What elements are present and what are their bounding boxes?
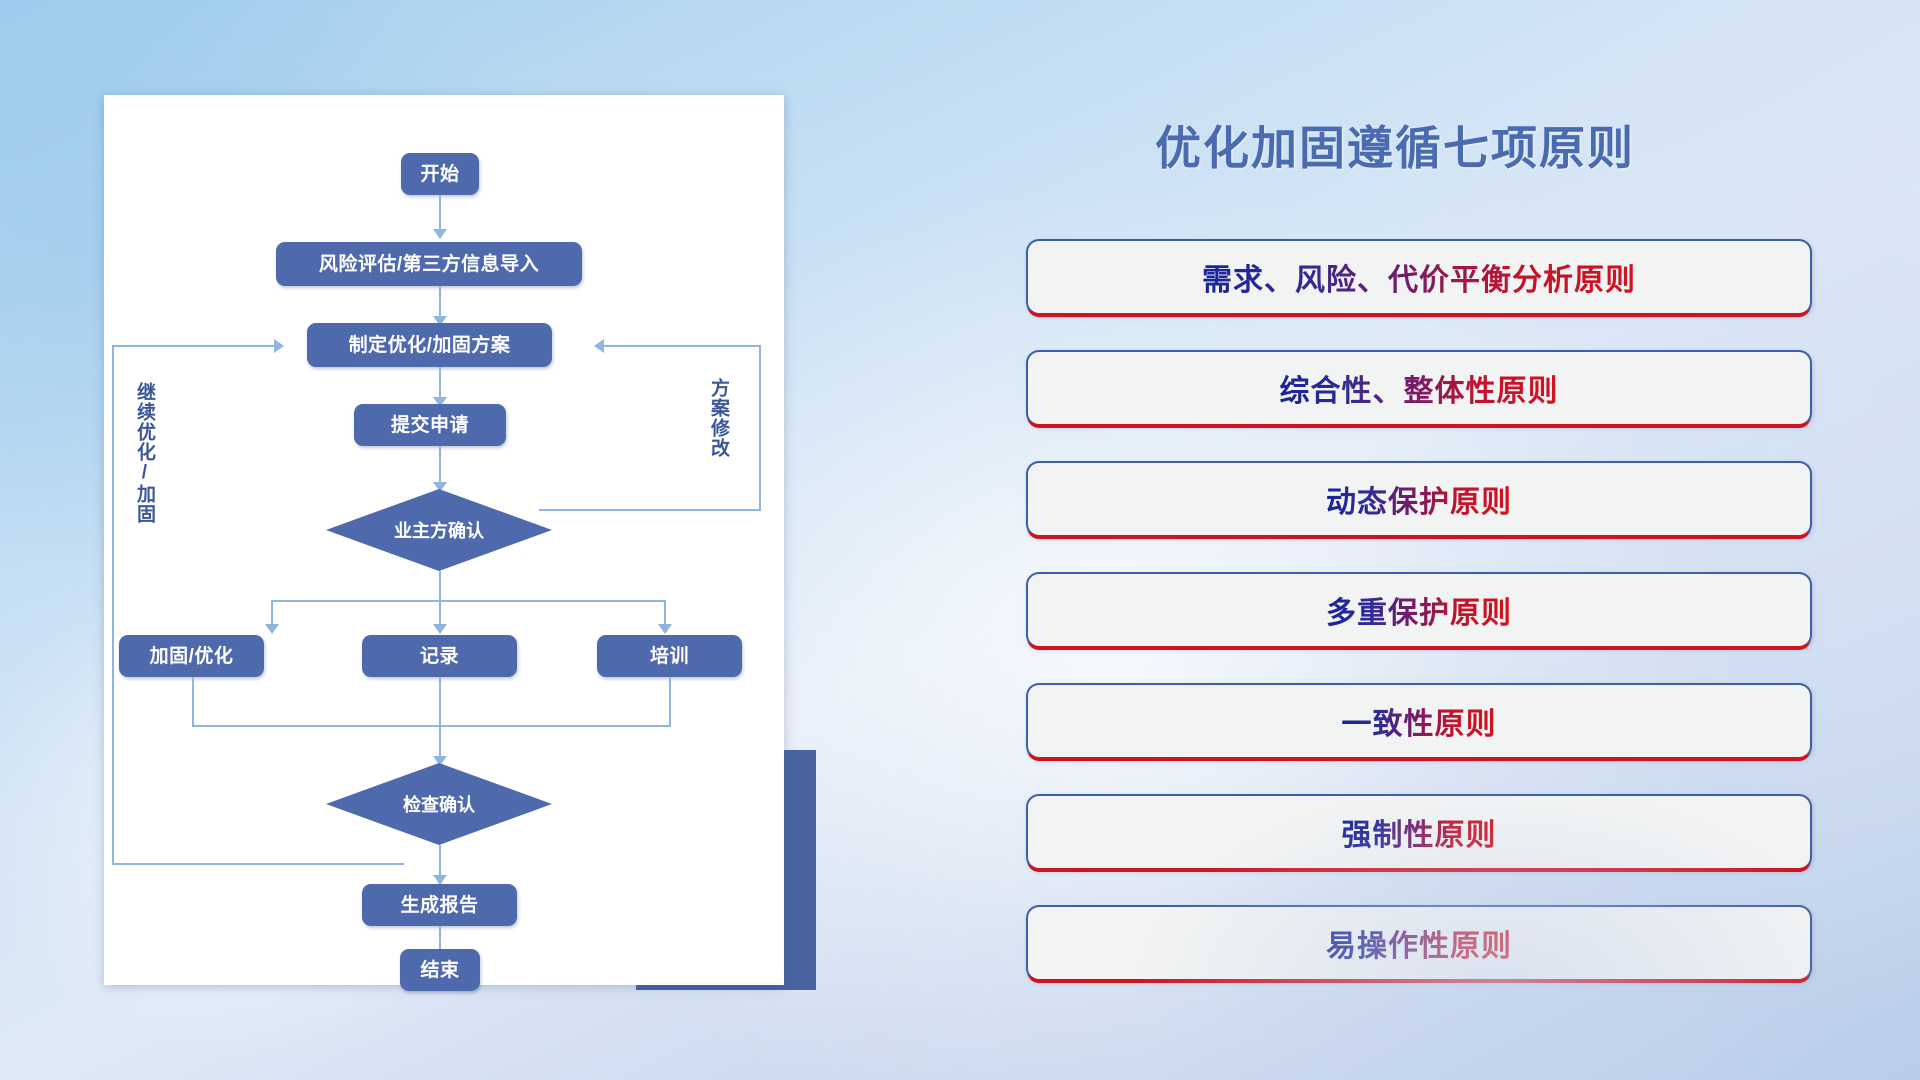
principle-item-7-label: 易操作性原则 (1326, 921, 1512, 965)
connector-right-rail-bottom (539, 509, 761, 511)
flow-node-record[interactable]: 记录 (362, 635, 517, 677)
connector-merge-bus (192, 725, 671, 727)
slide-canvas: 继续优化/加固 方案修改 开始 风险评估/第三方信息导入 制定优化/加固方案 (0, 0, 1920, 1080)
principle-item-4-label: 多重保护原则 (1326, 588, 1512, 632)
flow-node-reinforce-label: 加固/优化 (150, 647, 234, 666)
flow-node-plan[interactable]: 制定优化/加固方案 (307, 323, 552, 367)
principle-item-2[interactable]: 综合性、整体性原则 (1026, 350, 1812, 426)
flow-node-owner-confirm-label: 业主方确认 (394, 517, 484, 543)
principle-item-4[interactable]: 多重保护原则 (1026, 572, 1812, 648)
principle-item-5-label: 一致性原则 (1342, 699, 1497, 743)
flow-node-risk-assessment-label: 风险评估/第三方信息导入 (319, 255, 539, 274)
arrowhead-reinforce (265, 624, 279, 634)
flow-node-record-label: 记录 (420, 647, 459, 666)
connector-owner-down (439, 571, 441, 601)
connector-left-rail-vertical (112, 345, 114, 865)
connector-merge-mid (439, 677, 441, 727)
flow-node-end-label: 结束 (420, 961, 459, 980)
principle-item-3-label: 动态保护原则 (1326, 477, 1512, 521)
principle-item-2-label: 综合性、整体性原则 (1280, 366, 1559, 410)
flow-node-check[interactable]: 检查确认 (326, 763, 552, 845)
flow-node-end[interactable]: 结束 (400, 949, 480, 991)
flow-node-start[interactable]: 开始 (401, 153, 479, 195)
arrowhead-train (658, 624, 672, 634)
flow-node-risk-assessment[interactable]: 风险评估/第三方信息导入 (276, 242, 582, 286)
arrowhead-into-plan-left (274, 339, 284, 353)
arrowhead-risk (433, 229, 447, 239)
principle-item-5[interactable]: 一致性原则 (1026, 683, 1812, 759)
connector-left-rail-bottom (112, 863, 404, 865)
flow-node-submit-label: 提交申请 (391, 416, 469, 435)
connector-fanout-bus (271, 600, 666, 602)
flow-node-training[interactable]: 培训 (597, 635, 742, 677)
flow-node-reinforce[interactable]: 加固/优化 (119, 635, 264, 677)
principle-item-6[interactable]: 强制性原则 (1026, 794, 1812, 870)
arrowhead-into-plan-right (594, 339, 604, 353)
principle-item-3[interactable]: 动态保护原则 (1026, 461, 1812, 537)
principle-item-1-label: 需求、风险、代价平衡分析原则 (1202, 255, 1636, 299)
side-label-right: 方案修改 (708, 378, 728, 458)
flow-node-start-label: 开始 (420, 165, 459, 184)
flow-node-submit[interactable]: 提交申请 (354, 404, 506, 446)
connector-right-rail-vertical (759, 345, 761, 511)
connector-right-rail-top (604, 345, 761, 347)
connector-merge-left (192, 677, 194, 727)
flow-node-check-label: 检查确认 (403, 791, 475, 817)
flow-node-report-label: 生成报告 (400, 896, 478, 915)
principle-item-6-label: 强制性原则 (1342, 810, 1497, 854)
principle-item-1[interactable]: 需求、风险、代价平衡分析原则 (1026, 239, 1812, 315)
arrowhead-record (433, 624, 447, 634)
side-label-left: 继续优化/加固 (134, 382, 154, 524)
principles-panel-title: 优化加固遵循七项原则 (1155, 112, 1635, 178)
flow-node-plan-label: 制定优化/加固方案 (349, 336, 511, 355)
connector-left-rail-top (112, 345, 280, 347)
flow-node-training-label: 培训 (650, 647, 689, 666)
connector-merge-right (669, 677, 671, 727)
flowchart-card: 继续优化/加固 方案修改 开始 风险评估/第三方信息导入 制定优化/加固方案 (104, 95, 784, 985)
principle-item-7[interactable]: 易操作性原则 (1026, 905, 1812, 981)
flowchart: 继续优化/加固 方案修改 开始 风险评估/第三方信息导入 制定优化/加固方案 (104, 95, 784, 985)
flow-node-report[interactable]: 生成报告 (362, 884, 517, 926)
flow-node-owner-confirm[interactable]: 业主方确认 (326, 489, 552, 571)
